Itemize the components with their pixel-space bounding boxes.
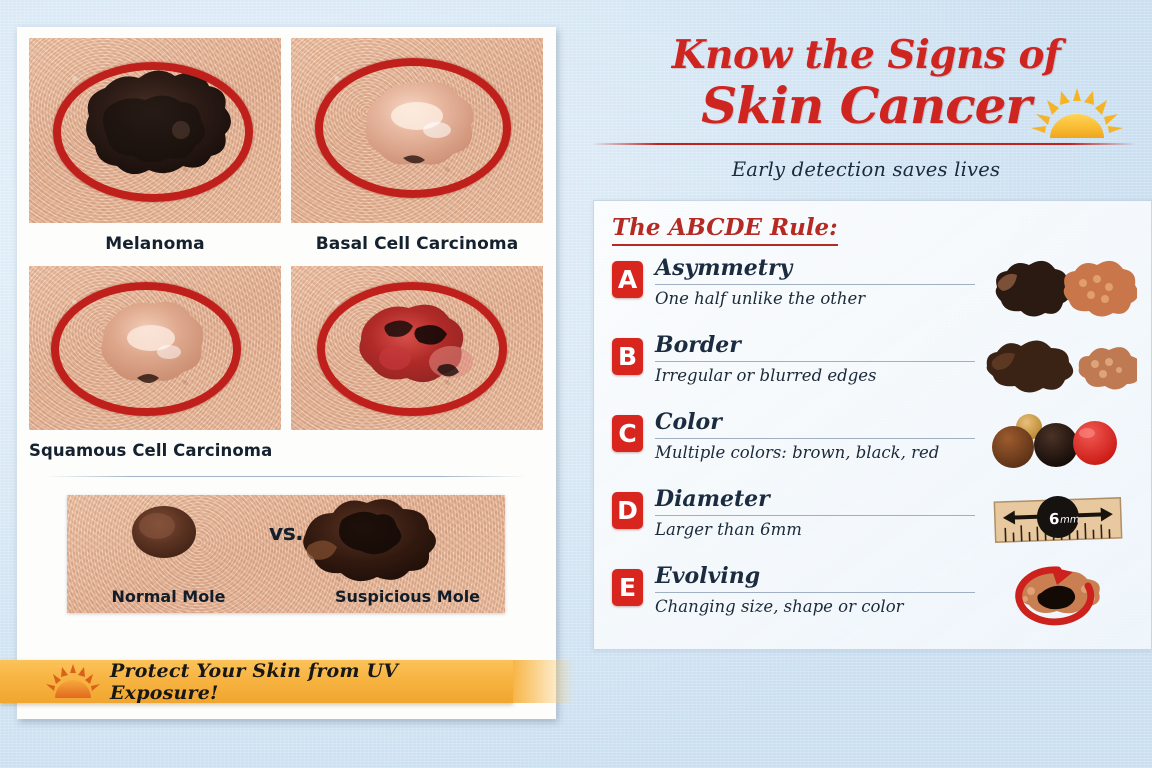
rule-heading: Evolving bbox=[655, 565, 975, 593]
red-circle-marker bbox=[51, 282, 241, 416]
photo-grid: Melanoma bbox=[29, 38, 543, 613]
ruler-6mm-icon: 6 mm bbox=[979, 488, 1137, 552]
photo-cell-melanoma: Melanoma bbox=[29, 38, 281, 264]
rule-subtext: Multiple colors: brown, black, red bbox=[655, 439, 975, 462]
rule-text-block: Asymmetry One half unlike the other bbox=[655, 257, 975, 308]
abcde-rule-box: The ABCDE Rule: A Asymmetry One half unl… bbox=[593, 200, 1152, 650]
rule-subtext: Changing size, shape or color bbox=[655, 593, 975, 616]
banner-text: Protect Your Skin from UV Exposure! bbox=[110, 660, 513, 704]
rule-text-block: Evolving Changing size, shape or color bbox=[655, 565, 975, 616]
photo-caption: Squamous Cell Carcinoma bbox=[29, 430, 281, 466]
info-panel: Know the Signs of Skin Cancer Early dete… bbox=[580, 0, 1152, 768]
rule-text-block: Diameter Larger than 6mm bbox=[655, 488, 975, 539]
rule-heading: Border bbox=[655, 334, 975, 362]
letter-badge-c: C bbox=[612, 415, 643, 452]
abcde-row-asymmetry: A Asymmetry One half unlike the other bbox=[612, 257, 1151, 323]
photo-caption: Melanoma bbox=[29, 223, 281, 264]
photo-cell-bleeding-lesion bbox=[291, 266, 543, 466]
photo-card: Melanoma bbox=[17, 27, 556, 719]
page-subtitle: Early detection saves lives bbox=[580, 145, 1152, 181]
photo-caption: Basal Cell Carcinoma bbox=[291, 223, 543, 264]
suspicious-mole-caption: Suspicious Mole bbox=[298, 587, 505, 606]
photo-row-bottom: Squamous Cell Carcinoma bbox=[29, 266, 543, 466]
letter-badge-e: E bbox=[612, 569, 643, 606]
red-circle-marker bbox=[317, 282, 507, 416]
abcde-row-diameter: D Diameter Larger than 6mm bbox=[612, 488, 1151, 554]
photo-cell-basal-cell: Basal Cell Carcinoma bbox=[291, 38, 543, 264]
page-title-line1: Know the Signs of bbox=[580, 0, 1152, 75]
section-divider bbox=[45, 476, 527, 477]
svg-text:6: 6 bbox=[1049, 510, 1060, 528]
rule-heading: Color bbox=[655, 411, 975, 439]
abcde-section-title: The ABCDE Rule: bbox=[612, 214, 838, 246]
letter-badge-d: D bbox=[612, 492, 643, 529]
uv-protection-banner: Protect Your Skin from UV Exposure! bbox=[0, 660, 513, 703]
asymmetry-lesion-icon bbox=[979, 257, 1137, 321]
multicolor-moles-icon bbox=[979, 411, 1137, 475]
red-circle-marker bbox=[53, 62, 253, 202]
evolving-arrow-lesion-icon bbox=[979, 565, 1137, 629]
abcde-row-border: B Border Irregular or blurred edges bbox=[612, 334, 1151, 400]
bleeding-lesion-photo bbox=[291, 266, 543, 430]
abcde-row-color: C Color Multiple colors: brown, black, r… bbox=[612, 411, 1151, 477]
photo-row-top: Melanoma bbox=[29, 38, 543, 264]
rule-heading: Asymmetry bbox=[655, 257, 975, 285]
irregular-border-lesion-icon bbox=[979, 334, 1137, 398]
rule-heading: Diameter bbox=[655, 488, 975, 516]
melanoma-photo bbox=[29, 38, 281, 223]
squamous-cell-carcinoma-photo bbox=[29, 266, 281, 430]
mole-comparison-photo: vs. Normal Mole Suspicious Mole bbox=[67, 495, 505, 613]
photo-cell-squamous: Squamous Cell Carcinoma bbox=[29, 266, 281, 466]
vs-label: vs. bbox=[269, 521, 303, 546]
sun-icon bbox=[42, 664, 104, 700]
rule-subtext: One half unlike the other bbox=[655, 285, 975, 308]
rule-subtext: Larger than 6mm bbox=[655, 516, 975, 539]
basal-cell-carcinoma-photo bbox=[291, 38, 543, 223]
normal-mole-caption: Normal Mole bbox=[67, 587, 278, 606]
svg-text:mm: mm bbox=[1060, 514, 1080, 526]
sun-icon bbox=[1028, 88, 1126, 140]
rule-text-block: Color Multiple colors: brown, black, red bbox=[655, 411, 975, 462]
abcde-row-evolving: E Evolving Changing size, shape or color bbox=[612, 565, 1151, 631]
letter-badge-a: A bbox=[612, 261, 643, 298]
letter-badge-b: B bbox=[612, 338, 643, 375]
rule-subtext: Irregular or blurred edges bbox=[655, 362, 975, 385]
red-circle-marker bbox=[315, 58, 511, 198]
rule-text-block: Border Irregular or blurred edges bbox=[655, 334, 975, 385]
